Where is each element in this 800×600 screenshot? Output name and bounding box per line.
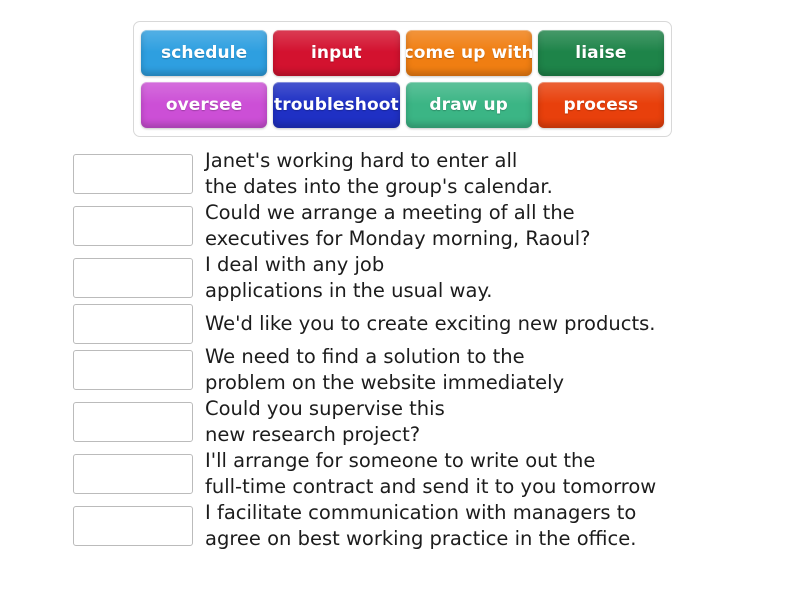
question-row: We'd like you to create exciting new pro… xyxy=(0,304,800,344)
word-tile-label: troubleshoot xyxy=(274,95,399,115)
question-row: Janet's working hard to enter all the da… xyxy=(0,148,800,200)
answer-drop-zone[interactable] xyxy=(73,154,193,194)
question-row: I'll arrange for someone to write out th… xyxy=(0,448,800,500)
question-text: We need to find a solution to the proble… xyxy=(205,344,564,396)
word-tile-row: scheduleinputcome up withliaise xyxy=(141,30,664,76)
answer-drop-zone[interactable] xyxy=(73,206,193,246)
word-bank: scheduleinputcome up withliaiseoverseetr… xyxy=(133,21,672,137)
answer-drop-zone[interactable] xyxy=(73,258,193,298)
question-row: Could you supervise this new research pr… xyxy=(0,396,800,448)
answer-drop-zone[interactable] xyxy=(73,454,193,494)
question-text: Could you supervise this new research pr… xyxy=(205,396,445,448)
question-text: I facilitate communication with managers… xyxy=(205,500,636,552)
word-tile-label: draw up xyxy=(429,95,508,115)
question-row: I deal with any job applications in the … xyxy=(0,252,800,304)
question-list: Janet's working hard to enter all the da… xyxy=(0,148,800,552)
word-tile[interactable]: input xyxy=(273,30,399,76)
question-text: Could we arrange a meeting of all the ex… xyxy=(205,200,590,252)
question-row: Could we arrange a meeting of all the ex… xyxy=(0,200,800,252)
question-text: Janet's working hard to enter all the da… xyxy=(205,148,553,200)
answer-drop-zone[interactable] xyxy=(73,350,193,390)
question-text: I'll arrange for someone to write out th… xyxy=(205,448,656,500)
answer-drop-zone[interactable] xyxy=(73,402,193,442)
word-tile[interactable]: process xyxy=(538,82,664,128)
question-text: I deal with any job applications in the … xyxy=(205,252,492,304)
word-tile-row: overseetroubleshootdraw upprocess xyxy=(141,82,664,128)
word-tile[interactable]: schedule xyxy=(141,30,267,76)
word-tile-label: oversee xyxy=(166,95,243,115)
question-row: We need to find a solution to the proble… xyxy=(0,344,800,396)
word-tile-label: input xyxy=(311,43,362,63)
question-row: I facilitate communication with managers… xyxy=(0,500,800,552)
word-tile[interactable]: troubleshoot xyxy=(273,82,399,128)
word-tile[interactable]: liaise xyxy=(538,30,664,76)
word-tile-label: schedule xyxy=(161,43,247,63)
word-tile-label: liaise xyxy=(575,43,626,63)
answer-drop-zone[interactable] xyxy=(73,506,193,546)
word-tile[interactable]: draw up xyxy=(406,82,532,128)
word-tile-label: come up with xyxy=(406,43,532,63)
question-text: We'd like you to create exciting new pro… xyxy=(205,311,655,337)
answer-drop-zone[interactable] xyxy=(73,304,193,344)
word-tile[interactable]: oversee xyxy=(141,82,267,128)
word-tile[interactable]: come up with xyxy=(406,30,532,76)
word-tile-label: process xyxy=(563,95,638,115)
